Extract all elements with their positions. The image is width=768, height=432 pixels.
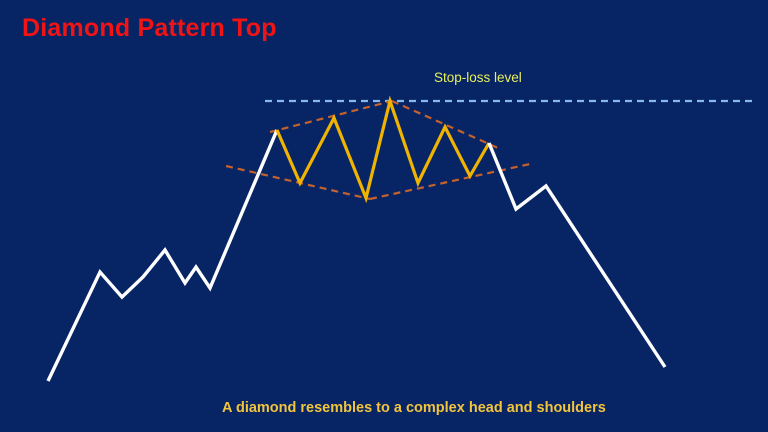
price-line-left	[48, 130, 277, 381]
upper-left-trendline	[270, 101, 392, 132]
diamond-pattern-line	[277, 101, 489, 198]
slide-caption: A diamond resembles to a complex head an…	[222, 400, 606, 416]
slide-canvas: Diamond Pattern Top Stop-loss level A di…	[0, 0, 768, 432]
lower-left-trendline	[226, 166, 370, 199]
pattern-chart	[0, 0, 768, 432]
price-lines-group	[48, 101, 665, 381]
stop-loss-label: Stop-loss level	[434, 70, 522, 85]
price-line-right	[489, 143, 665, 367]
